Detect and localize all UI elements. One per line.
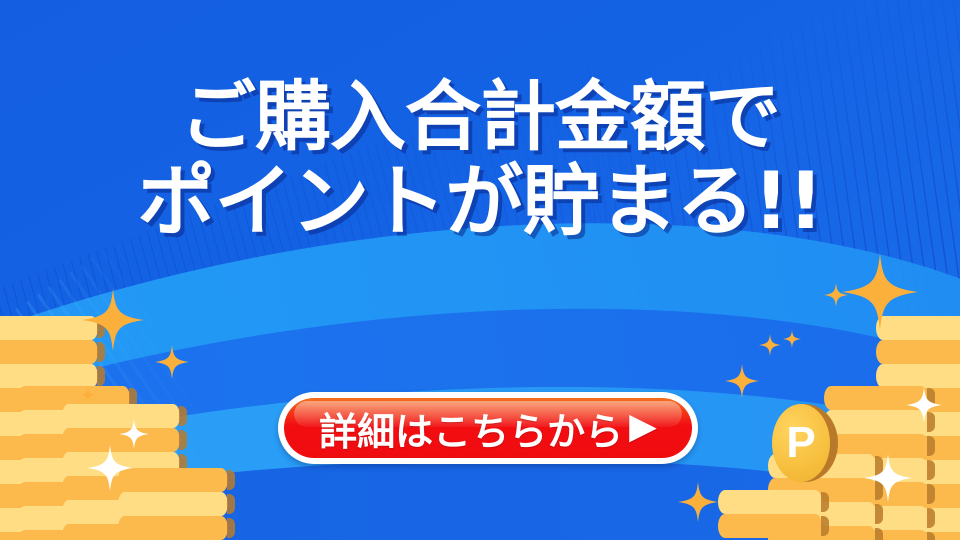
coin <box>718 514 822 538</box>
sparkle-orange-left-small-icon <box>155 345 189 379</box>
coin <box>876 364 960 388</box>
play-arrow-icon: ▶ <box>629 409 657 445</box>
coin-stack-left-short <box>118 468 228 540</box>
coin <box>876 340 960 364</box>
coin <box>118 516 228 540</box>
point-coin-badge: P <box>772 404 838 482</box>
coin <box>118 492 228 516</box>
detail-cta-button[interactable]: 詳細はこちらから ▶ <box>278 392 698 464</box>
sparkle-orange-left-large-icon <box>82 289 144 351</box>
sparkle-orange-right-tiny-icon <box>783 330 801 348</box>
point-campaign-banner: P ご購入合計金額で ポイントが貯まる!! 詳細はこちらから ▶ <box>0 0 960 540</box>
detail-cta-label: 詳細はこちらから <box>319 401 623 456</box>
coin-stack-right-short <box>718 490 822 538</box>
sparkle-white-right-upper-icon <box>906 387 942 423</box>
sparkle-orange-left-tiny-icon <box>80 387 96 403</box>
sparkle-orange-center-right-icon <box>725 364 759 398</box>
sparkle-orange-right-mid-icon <box>759 334 781 356</box>
sparkle-white-left-bottom-icon <box>87 445 133 491</box>
point-coin-letter: P <box>772 404 830 482</box>
detail-cta-label-wrap: 詳細はこちらから ▶ <box>319 401 657 456</box>
detail-cta-inner: 詳細はこちらから ▶ <box>284 398 692 458</box>
coin <box>118 468 228 492</box>
sparkle-orange-right-large-icon <box>842 254 918 330</box>
sparkle-white-right-lower-icon <box>864 454 912 502</box>
sparkle-orange-bottom-center-icon <box>678 482 718 522</box>
coin <box>0 364 98 388</box>
coin <box>718 490 822 514</box>
